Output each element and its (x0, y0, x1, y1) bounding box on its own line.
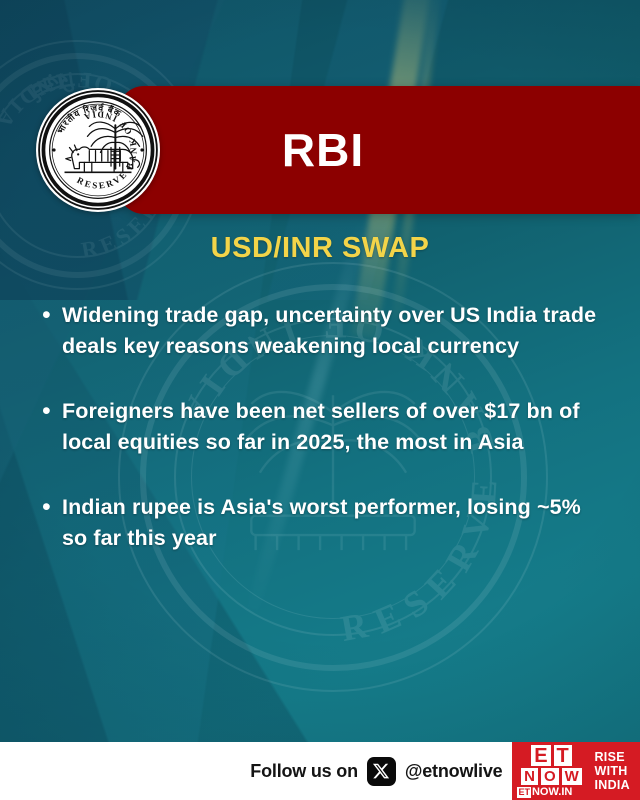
follow-label: Follow us on (250, 761, 358, 782)
etnow-et-row: E T (516, 745, 586, 766)
bullet-marker: • (38, 396, 62, 458)
rbi-logo: RESERVE BANK OF INDIA भारतीय रिज़र्व बैं… (36, 88, 160, 212)
etnow-url-prefix: ET (517, 787, 531, 798)
social-handle[interactable]: @etnowlive (405, 761, 503, 782)
tagline-line-2: WITH (594, 764, 630, 778)
bullet-text: Indian rupee is Asia's worst performer, … (62, 492, 604, 554)
tagline-line-1: RISE (594, 750, 630, 764)
list-item: • Widening trade gap, uncertainty over U… (38, 300, 604, 362)
subtitle: USD/INR SWAP (0, 232, 640, 265)
etnow-now-row: N O W (516, 768, 586, 785)
etnow-logo[interactable]: E T N O W ET NOW.IN RISE WITH INDIA (512, 742, 640, 800)
etnow-letter-o: O (541, 768, 559, 785)
bullet-text: Widening trade gap, uncertainty over US … (62, 300, 604, 362)
etnow-letter-n: N (521, 768, 538, 785)
bullet-list: • Widening trade gap, uncertainty over U… (38, 300, 604, 588)
etnow-wordmark: E T N O W ET NOW.IN (512, 742, 590, 800)
list-item: • Indian rupee is Asia's worst performer… (38, 492, 604, 554)
bullet-marker: • (38, 300, 62, 362)
footer-bar: Follow us on @etnowlive E T N O W (0, 742, 640, 800)
infographic-card: RESERVE BANK OF INDIA RESERVE BANK OF IN… (0, 0, 640, 800)
etnow-letter-w: W (562, 768, 582, 785)
etnow-letter-e: E (531, 745, 550, 766)
bullet-text: Foreigners have been net sellers of over… (62, 396, 604, 458)
etnow-tagline: RISE WITH INDIA (590, 742, 640, 800)
follow-us-group: Follow us on @etnowlive (250, 757, 502, 786)
x-twitter-icon[interactable] (367, 757, 396, 786)
page-title: RBI (282, 123, 364, 177)
title-banner: RBI (118, 86, 640, 214)
etnow-url-suffix: NOW.IN (531, 787, 572, 798)
list-item: • Foreigners have been net sellers of ov… (38, 396, 604, 458)
etnow-letter-t: T (554, 745, 572, 766)
bullet-marker: • (38, 492, 62, 554)
etnow-url: ET NOW.IN (516, 787, 586, 798)
tagline-line-3: INDIA (594, 778, 630, 792)
